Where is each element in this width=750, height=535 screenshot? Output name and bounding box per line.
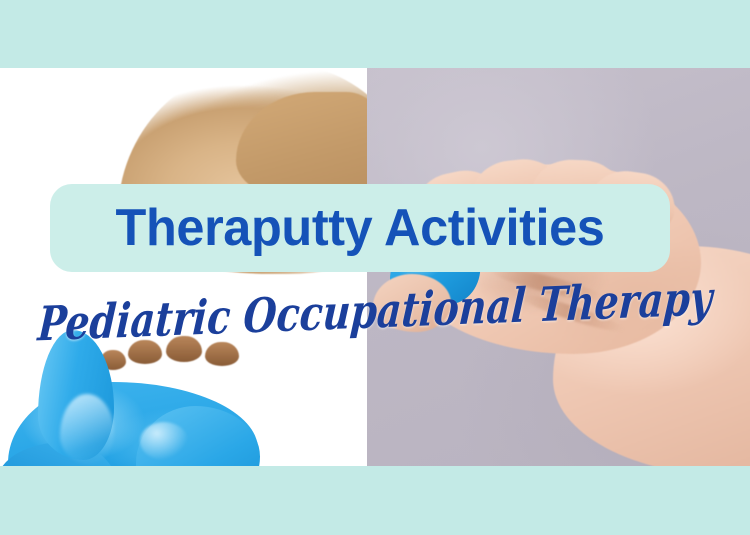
blue-putty-mass [0, 330, 280, 466]
putty-highlight-b [140, 422, 188, 460]
bottom-border-band [0, 466, 750, 535]
thumb-form [373, 274, 451, 332]
page-title: Theraputty Activities [116, 202, 605, 254]
putty-highlight-a [60, 394, 114, 464]
title-banner: Theraputty Activities [50, 184, 670, 272]
top-border-band [0, 0, 750, 68]
pinterest-graphic-canvas: Theraputty Activities Pediatric Occupati… [0, 0, 750, 535]
